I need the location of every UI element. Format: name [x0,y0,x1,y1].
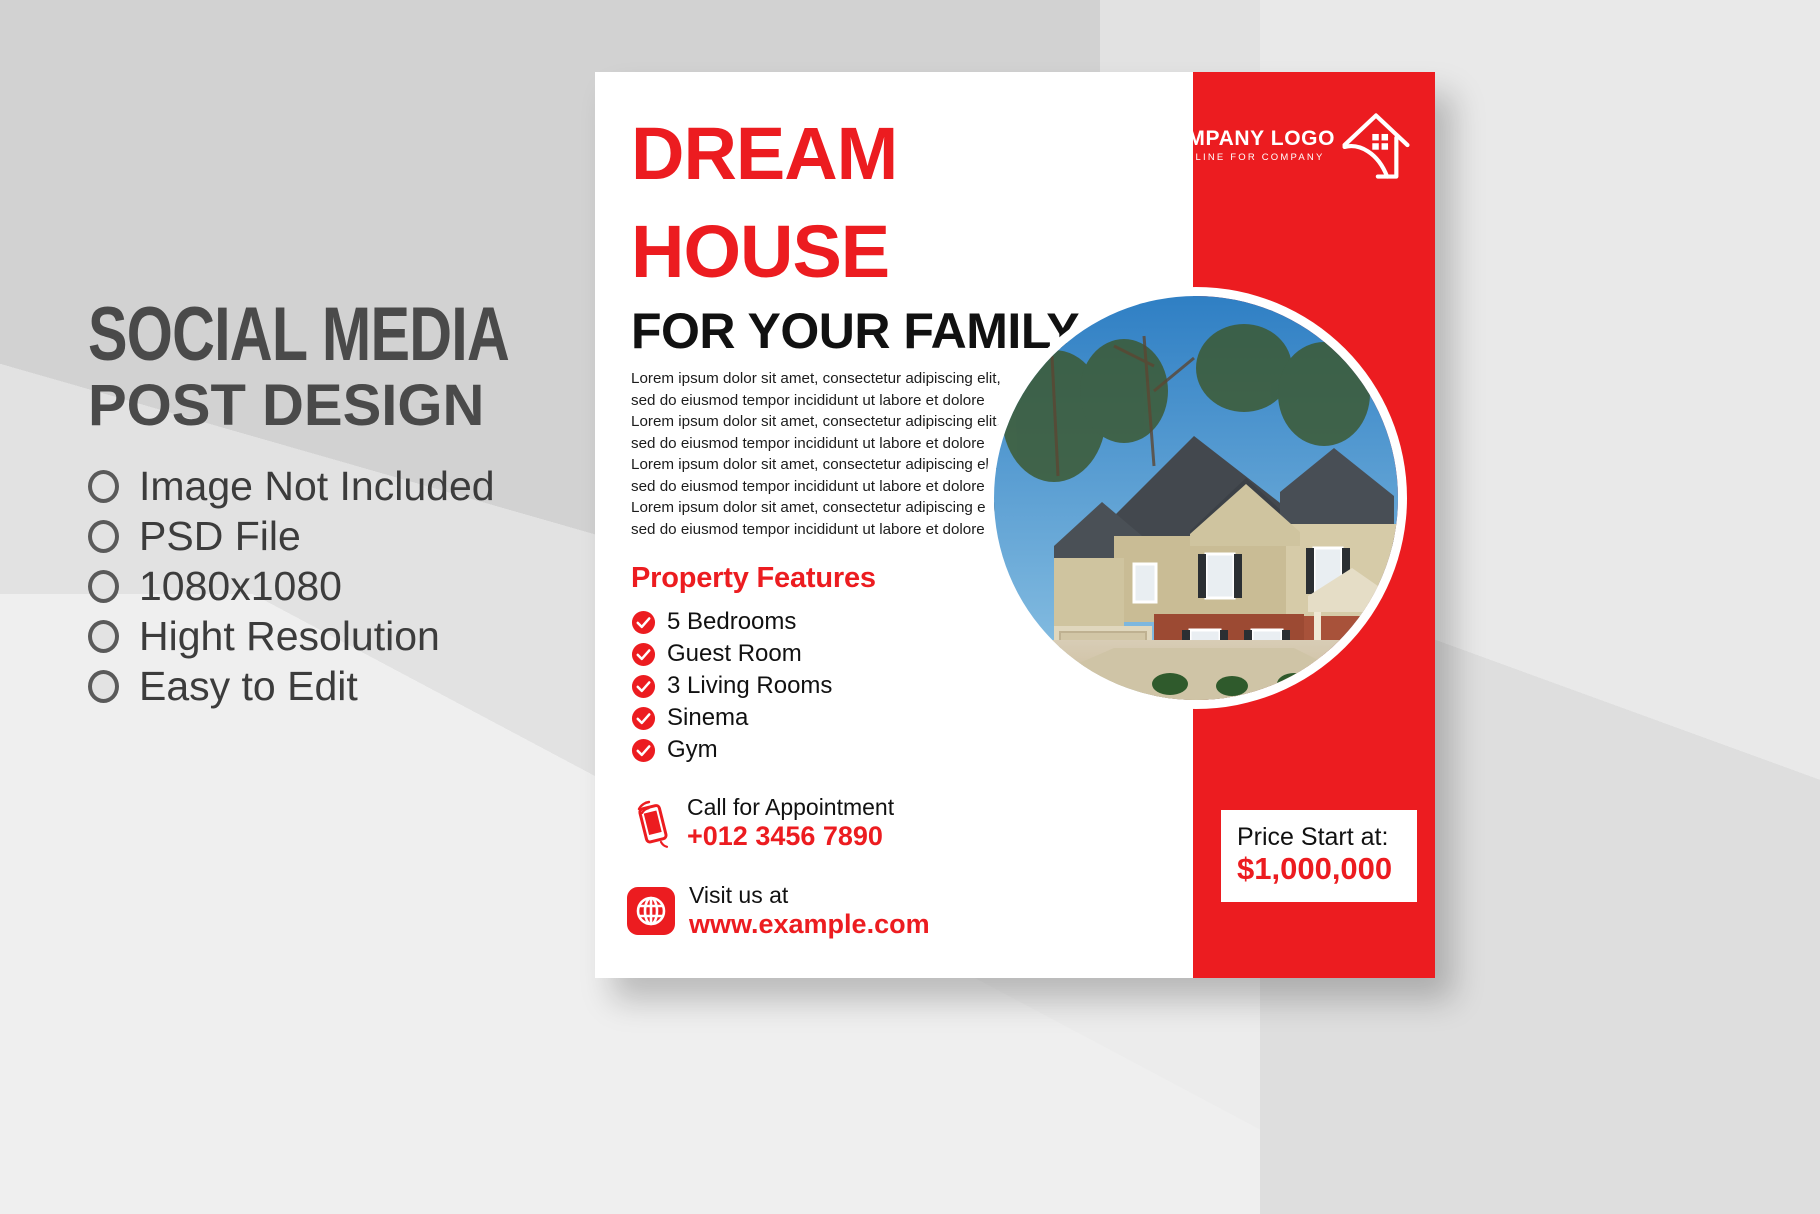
page-title-line2: HOUSE [631,216,889,289]
promo-panel: SOCIAL MEDIA POST DESIGN Image Not Inclu… [88,300,558,713]
body-copy: Lorem ipsum dolor sit amet, consectetur … [631,368,1001,541]
list-item: Gym [631,734,832,766]
price-box: Price Start at: $1,000,000 [1221,810,1417,902]
list-item: Sinema [631,702,832,734]
globe-icon [627,887,675,935]
contact-website[interactable]: Visit us at www.example.com [627,882,930,941]
promo-item-label: Hight Resolution [139,616,440,657]
feature-label: Sinema [667,706,748,730]
website-url[interactable]: www.example.com [689,909,930,941]
check-circle-icon [631,610,656,635]
check-circle-icon [631,738,656,763]
promo-item-label: Image Not Included [139,466,495,507]
company-logo: COMPANY LOGO TAG LINE FOR COMPANY [1155,108,1413,184]
feature-label: 5 Bedrooms [667,610,796,634]
body-line: sed do eiusmod tempor incididunt ut labo… [631,476,1001,498]
check-circle-icon [631,642,656,667]
list-item: 1080x1080 [88,563,558,611]
feature-label: Gym [667,738,718,762]
page-title-line3: FOR YOUR FAMILY [631,306,1079,356]
list-item: 5 Bedrooms [631,606,832,638]
house-logo-icon [1339,108,1413,184]
circle-bullet-icon [88,570,119,603]
contact-phone[interactable]: Call for Appointment +012 3456 7890 [631,794,894,853]
list-item: PSD File [88,513,558,561]
price-value: $1,000,000 [1237,851,1401,887]
body-line: sed do eiusmod tempor incididunt ut labo… [631,433,1001,455]
phone-text-block: Call for Appointment +012 3456 7890 [687,794,894,853]
circle-bullet-icon [88,670,119,703]
circle-bullet-icon [88,620,119,653]
website-label: Visit us at [689,882,930,909]
list-item: Image Not Included [88,463,558,511]
check-circle-icon [631,706,656,731]
list-item: Hight Resolution [88,613,558,661]
mobile-phone-icon [631,797,673,849]
circle-bullet-icon [88,520,119,553]
price-label: Price Start at: [1237,823,1401,851]
page-title-line1: DREAM [631,118,897,191]
body-line: Lorem ipsum dolor sit amet, consectetur … [631,411,1001,433]
feature-label: Guest Room [667,642,802,666]
logo-tagline: TAG LINE FOR COMPANY [1155,150,1335,165]
house-photo-illustration [994,296,1398,700]
promo-feature-list: Image Not Included PSD File 1080x1080 Hi… [88,463,558,711]
promo-item-label: PSD File [139,516,301,557]
features-list: 5 Bedrooms Guest Room 3 Living Rooms Sin… [631,606,832,766]
logo-text-block: COMPANY LOGO TAG LINE FOR COMPANY [1155,127,1335,165]
promo-title: SOCIAL MEDIA [88,300,455,370]
property-photo [994,296,1398,700]
check-circle-icon [631,674,656,699]
body-line: Lorem ipsum dolor sit amet, consectetur … [631,497,1001,519]
phone-label: Call for Appointment [687,794,894,821]
body-line: Lorem ipsum dolor sit amet, consectetur … [631,368,1001,390]
promo-item-label: Easy to Edit [139,666,358,707]
circle-bullet-icon [88,470,119,503]
body-line: Lorem ipsum dolor sit amet, consectetur … [631,454,1001,476]
list-item: Easy to Edit [88,663,558,711]
list-item: 3 Living Rooms [631,670,832,702]
body-line: sed do eiusmod tempor incididunt ut labo… [631,390,1001,412]
promo-item-label: 1080x1080 [139,566,342,607]
promo-subtitle: POST DESIGN [88,376,558,437]
phone-number[interactable]: +012 3456 7890 [687,821,894,853]
flyer-card: COMPANY LOGO TAG LINE FOR COMPANY DREAM … [595,72,1435,978]
logo-company-name: COMPANY LOGO [1155,127,1335,150]
feature-label: 3 Living Rooms [667,674,832,698]
list-item: Guest Room [631,638,832,670]
website-text-block: Visit us at www.example.com [689,882,930,941]
features-heading: Property Features [631,562,876,595]
body-line: sed do eiusmod tempor incididunt ut labo… [631,519,1001,541]
